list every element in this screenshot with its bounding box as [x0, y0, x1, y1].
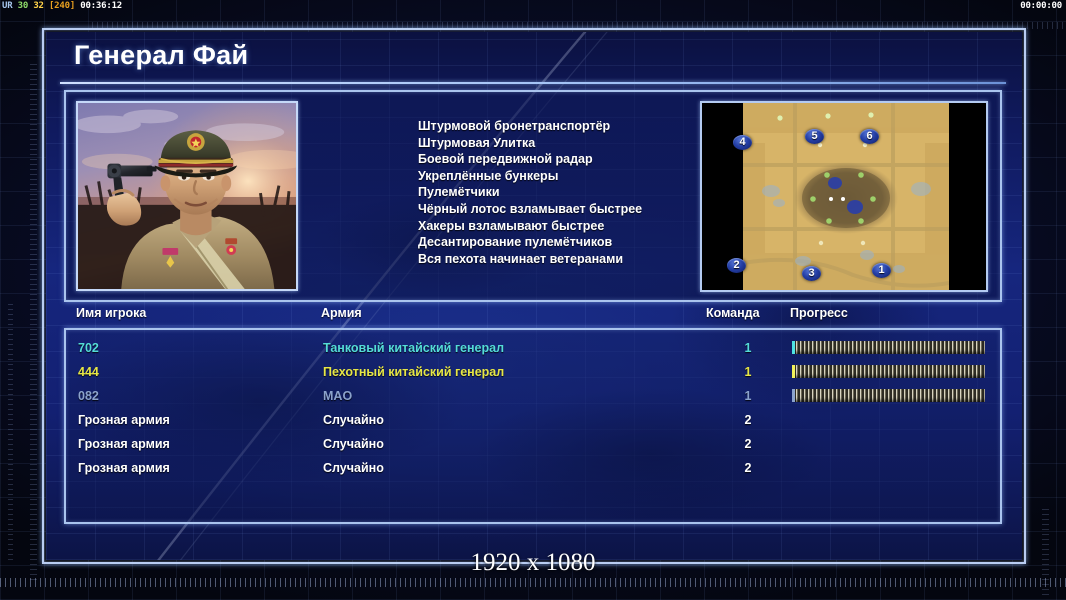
- progress-bar-fill: [792, 389, 985, 402]
- ability-item: Укреплённые бункеры: [418, 168, 728, 185]
- progress-bar-cap: [792, 341, 795, 354]
- player-name-cell[interactable]: 082: [78, 384, 99, 408]
- player-name-cell[interactable]: 702: [78, 336, 99, 360]
- ability-item: Штурмовая Улитка: [418, 135, 728, 152]
- general-portrait: [76, 101, 298, 291]
- page-title: Генерал Фай: [74, 40, 248, 71]
- ability-item: Вся пехота начинает ветеранами: [418, 251, 728, 268]
- ability-item: Штурмовой бронетранспортёр: [418, 118, 728, 135]
- ability-item: Десантирование пулемётчиков: [418, 234, 728, 251]
- perf-fps: 30: [18, 1, 28, 11]
- performance-readout: UR 30 32 [240] 00:36:12: [2, 0, 122, 13]
- column-header-progress: Прогресс: [790, 306, 848, 320]
- top-status-overlay: UR 30 32 [240] 00:36:12 00:00:00: [0, 0, 1066, 13]
- ruler-decoration-bottom: [0, 578, 1066, 587]
- table-row[interactable]: 702Танковый китайский генерал1: [66, 336, 1000, 360]
- ability-item: Чёрный лотос взламывает быстрее: [418, 201, 728, 218]
- player-table: 702Танковый китайский генерал1444Пехотны…: [64, 328, 1002, 524]
- skirmish-setup-window: Генерал Фай: [42, 28, 1026, 564]
- column-header-team: Команда: [706, 306, 760, 320]
- minimap-start-position[interactable]: 3: [802, 266, 821, 281]
- resolution-overlay: 1920 x 1080: [0, 549, 1066, 577]
- progress-bar-cap: [792, 365, 795, 378]
- minimap-start-position[interactable]: 2: [727, 258, 746, 273]
- session-clock: 00:00:00: [1020, 0, 1062, 13]
- army-select-cell[interactable]: Случайно: [323, 408, 384, 432]
- player-name-cell[interactable]: Грозная армия: [78, 432, 170, 456]
- army-select-cell[interactable]: MAO: [323, 384, 352, 408]
- perf-ms: 32: [33, 1, 43, 11]
- army-select-cell[interactable]: Случайно: [323, 456, 384, 480]
- progress-bar-cap: [792, 389, 795, 402]
- column-header-army: Армия: [321, 306, 362, 320]
- ability-item: Боевой передвижной радар: [418, 151, 728, 168]
- progress-bar-fill: [792, 365, 985, 378]
- ruler-decoration-corner: [8, 300, 13, 560]
- minimap-preview[interactable]: 4 5 6 2 3 1: [700, 101, 988, 292]
- player-table-header: Имя игрока Армия Команда Прогресс: [64, 306, 1002, 328]
- progress-bar: [792, 365, 985, 378]
- team-select-cell[interactable]: 1: [738, 384, 758, 408]
- ability-item: Хакеры взламывают быстрее: [418, 218, 728, 235]
- title-bar: Генерал Фай: [60, 38, 1006, 84]
- window-inner-surface: Генерал Фай: [46, 32, 1022, 560]
- table-row[interactable]: 444Пехотный китайский генерал1: [66, 360, 1000, 384]
- minimap-start-position[interactable]: 1: [872, 263, 891, 278]
- player-name-cell[interactable]: Грозная армия: [78, 408, 170, 432]
- minimap-start-position[interactable]: 4: [733, 135, 752, 150]
- minimap-start-position[interactable]: 6: [860, 129, 879, 144]
- general-info-panel: Штурмовой бронетранспортёр Штурмовая Ули…: [64, 90, 1002, 302]
- progress-bar-fill: [792, 341, 985, 354]
- army-select-cell[interactable]: Танковый китайский генерал: [323, 336, 504, 360]
- team-select-cell[interactable]: 2: [738, 432, 758, 456]
- army-select-cell[interactable]: Случайно: [323, 432, 384, 456]
- table-row[interactable]: Грозная армияСлучайно2: [66, 432, 1000, 456]
- perf-bracket: [240]: [49, 1, 75, 11]
- player-name-cell[interactable]: Грозная армия: [78, 456, 170, 480]
- team-select-cell[interactable]: 1: [738, 360, 758, 384]
- table-row[interactable]: Грозная армияСлучайно2: [66, 456, 1000, 480]
- table-row[interactable]: 082MAO1: [66, 384, 1000, 408]
- player-name-cell[interactable]: 444: [78, 360, 99, 384]
- team-select-cell[interactable]: 1: [738, 336, 758, 360]
- ruler-decoration-left: [30, 60, 37, 580]
- column-header-player: Имя игрока: [76, 306, 146, 320]
- progress-bar: [792, 389, 985, 402]
- table-row[interactable]: Грозная армияСлучайно2: [66, 408, 1000, 432]
- ability-item: Пулемётчики: [418, 184, 728, 201]
- perf-time: 00:36:12: [80, 1, 122, 11]
- team-select-cell[interactable]: 2: [738, 456, 758, 480]
- title-divider: [60, 82, 1006, 84]
- perf-prefix: UR: [2, 1, 12, 11]
- general-abilities-list: Штурмовой бронетранспортёр Штурмовая Ули…: [418, 118, 728, 267]
- progress-bar: [792, 341, 985, 354]
- minimap-start-position[interactable]: 5: [805, 129, 824, 144]
- army-select-cell[interactable]: Пехотный китайский генерал: [323, 360, 504, 384]
- team-select-cell[interactable]: 2: [738, 408, 758, 432]
